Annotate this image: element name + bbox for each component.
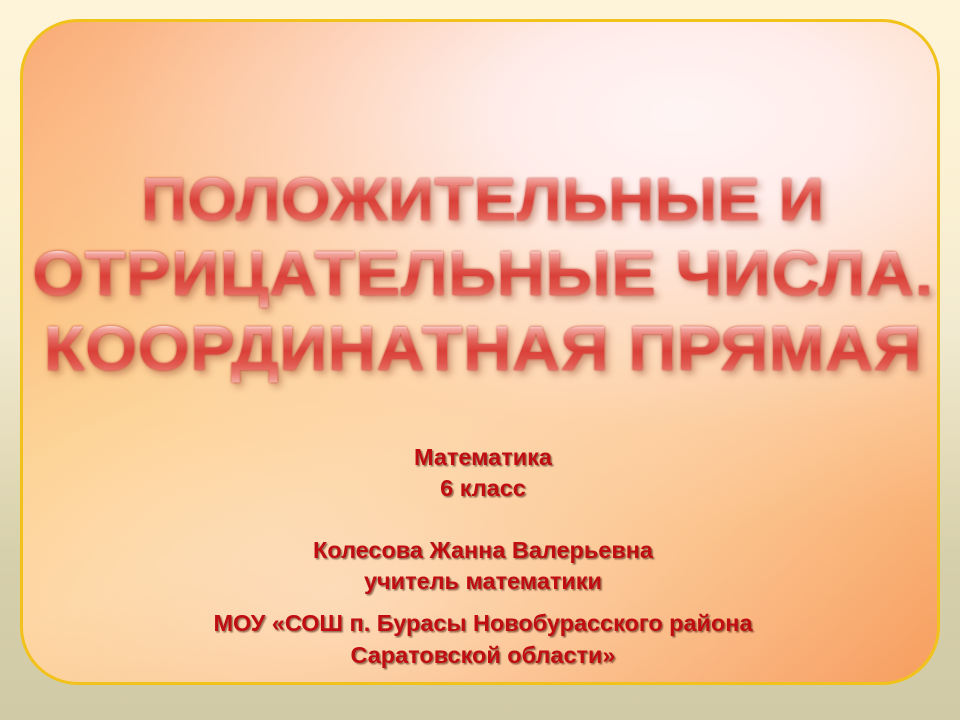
slide-panel: ПОЛОЖИТЕЛЬНЫЕ И ОТРИЦАТЕЛЬНЫЕ ЧИСЛА. КОО… [20,19,940,685]
title-line-2: ОТРИЦАТЕЛЬНЫЕ ЧИСЛА. [20,237,940,312]
title-line-1: ПОЛОЖИТЕЛЬНЫЕ И [20,162,940,237]
presentation-slide: ПОЛОЖИТЕЛЬНЫЕ И ОТРИЦАТЕЛЬНЫЕ ЧИСЛА. КОО… [0,0,960,720]
author-role: учитель математики [20,566,940,597]
school-line-1: МОУ «СОШ п. Бурасы Новобурасского района [20,607,940,640]
title-line-3: КООРДИНАТНАЯ ПРЯМАЯ [20,312,940,387]
grade-label: 6 класс [20,473,940,504]
school-line-2: Саратовской области» [20,640,940,670]
subject-label: Математика [20,442,940,473]
author-name: Колесова Жанна Валерьевна [20,535,940,566]
author-info: Колесова Жанна Валерьевна учитель матема… [23,535,940,670]
slide-title: ПОЛОЖИТЕЛЬНЫЕ И ОТРИЦАТЕЛЬНЫЕ ЧИСЛА. КОО… [23,162,940,387]
course-info: Математика 6 класс [23,442,940,504]
